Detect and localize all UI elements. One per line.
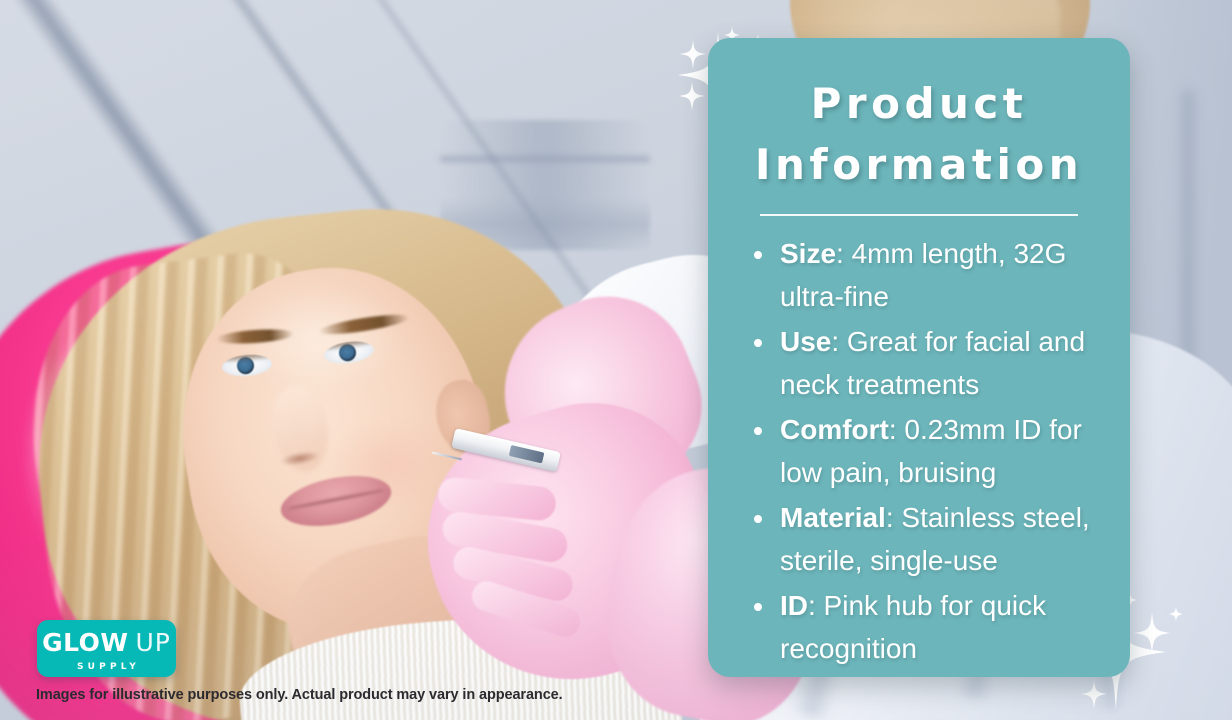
logo-wordmark: GLOW UP	[42, 630, 171, 655]
spec-item-size: Size: 4mm length, 32G ultra-fine	[750, 232, 1096, 318]
spec-item-comfort: Comfort: 0.23mm ID for low pain, bruisin…	[750, 408, 1096, 494]
spec-label: Use	[780, 326, 831, 357]
title-divider	[760, 214, 1078, 216]
spec-label: Size	[780, 238, 836, 269]
spec-label: Comfort	[780, 414, 889, 445]
spec-item-use: Use: Great for facial and neck treatment…	[750, 320, 1096, 406]
spec-label: Material	[780, 502, 886, 533]
disclaimer-text: Images for illustrative purposes only. A…	[36, 687, 563, 703]
spec-item-id: ID: Pink hub for quick recognition	[750, 584, 1096, 670]
promotional-graphic-canvas: Product Information Size: 4mm length, 32…	[0, 0, 1232, 720]
product-information-panel: Product Information Size: 4mm length, 32…	[708, 38, 1130, 677]
logo-word-glow: GLOW	[42, 630, 128, 655]
product-spec-list: Size: 4mm length, 32G ultra-fine Use: Gr…	[738, 232, 1100, 670]
spec-value: : Pink hub for quick recognition	[780, 590, 1046, 664]
brand-logo[interactable]: GLOW UP SUPPLY	[37, 620, 176, 677]
logo-word-up: UP	[136, 630, 171, 655]
background-shadow	[1180, 90, 1196, 390]
spec-label: ID	[780, 590, 808, 621]
panel-title: Product Information	[738, 74, 1100, 196]
logo-tagline: SUPPLY	[73, 662, 140, 672]
spec-item-material: Material: Stainless steel, sterile, sing…	[750, 496, 1096, 582]
